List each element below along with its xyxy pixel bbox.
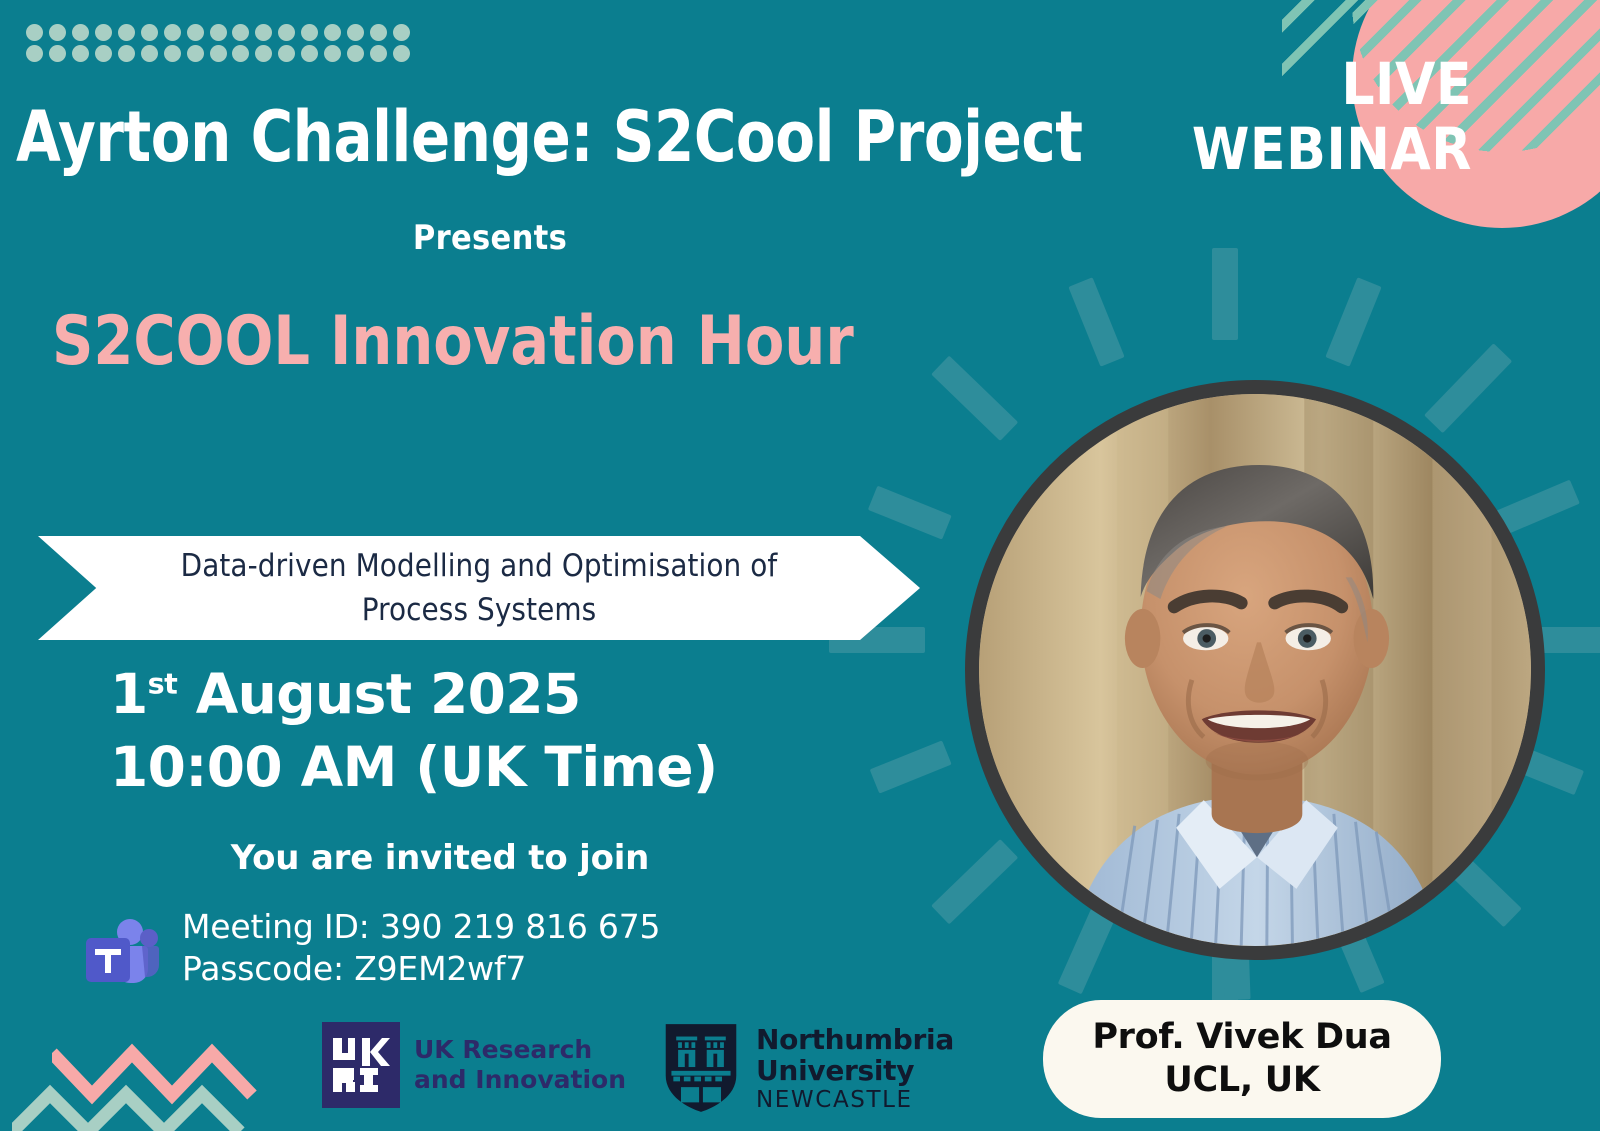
dot-grid-decoration <box>26 22 416 64</box>
northumbria-line3: NEWCASTLE <box>756 1086 954 1116</box>
northumbria-shield-icon <box>660 1020 742 1121</box>
zigzag-pink-decoration <box>52 1037 292 1112</box>
schedule-block: 1st August 2025 10:00 AM (UK Time) <box>110 658 718 803</box>
talk-title-text: Data-driven Modelling and Optimisation o… <box>135 544 823 632</box>
ukri-mark-icon <box>322 1022 400 1108</box>
event-day-ordinal: st <box>148 667 178 701</box>
speaker-affiliation: UCL, UK <box>1164 1059 1319 1102</box>
sunburst-ray <box>1325 277 1381 366</box>
meeting-credentials: Meeting ID: 390 219 816 675 Passcode: Z9… <box>182 906 660 990</box>
meeting-id: Meeting ID: 390 219 816 675 <box>182 906 660 948</box>
meeting-details: Meeting ID: 390 219 816 675 Passcode: Z9… <box>78 906 660 990</box>
northumbria-line2: University <box>756 1056 954 1086</box>
invitation-text: You are invited to join <box>110 838 770 878</box>
microsoft-teams-icon <box>78 912 162 988</box>
event-time: 10:00 AM (UK Time) <box>110 731 718 804</box>
sunburst-ray <box>868 486 952 540</box>
speaker-name-plate: Prof. Vivek Dua UCL, UK <box>1043 1000 1441 1118</box>
ukri-line2: and Innovation <box>414 1065 626 1096</box>
live-webinar-badge: LIVE WEBINAR <box>1192 52 1472 182</box>
sunburst-ray <box>931 839 1018 924</box>
event-date-rest: August 2025 <box>177 662 580 726</box>
event-date: 1st August 2025 <box>110 658 718 731</box>
project-title: Ayrton Challenge: S2Cool Project <box>16 102 936 172</box>
sunburst-ray <box>1212 248 1238 340</box>
event-day: 1 <box>110 662 148 726</box>
sunburst-ray <box>1068 277 1124 366</box>
sunburst-ray <box>870 740 952 793</box>
talk-title-line2: Process Systems <box>362 592 597 628</box>
live-webinar-line2: WEBINAR <box>1192 117 1472 182</box>
speaker-photo-image <box>979 394 1531 946</box>
sunburst-ray <box>1496 480 1580 535</box>
webinar-poster: Ayrton Challenge: S2Cool Project Present… <box>0 0 1600 1131</box>
northumbria-logo: Northumbria University NEWCASTLE <box>660 1020 954 1121</box>
presents-label: Presents <box>0 218 980 258</box>
ukri-logo: UK Research and Innovation <box>322 1022 626 1108</box>
ukri-wordmark: UK Research and Innovation <box>414 1035 626 1096</box>
sunburst-ray <box>1424 343 1512 433</box>
meeting-passcode: Passcode: Z9EM2wf7 <box>182 948 660 990</box>
speaker-name: Prof. Vivek Dua <box>1092 1016 1391 1059</box>
live-webinar-line1: LIVE <box>1192 52 1472 117</box>
talk-title-line1: Data-driven Modelling and Optimisation o… <box>181 548 778 584</box>
event-title: S2COOL Innovation Hour <box>52 308 973 376</box>
northumbria-line1: Northumbria <box>756 1025 954 1055</box>
ukri-line1: UK Research <box>414 1035 626 1066</box>
speaker-photo <box>965 380 1545 960</box>
talk-title-ribbon: Data-driven Modelling and Optimisation o… <box>38 536 920 640</box>
northumbria-wordmark: Northumbria University NEWCASTLE <box>756 1025 954 1115</box>
sunburst-ray <box>1058 909 1115 994</box>
